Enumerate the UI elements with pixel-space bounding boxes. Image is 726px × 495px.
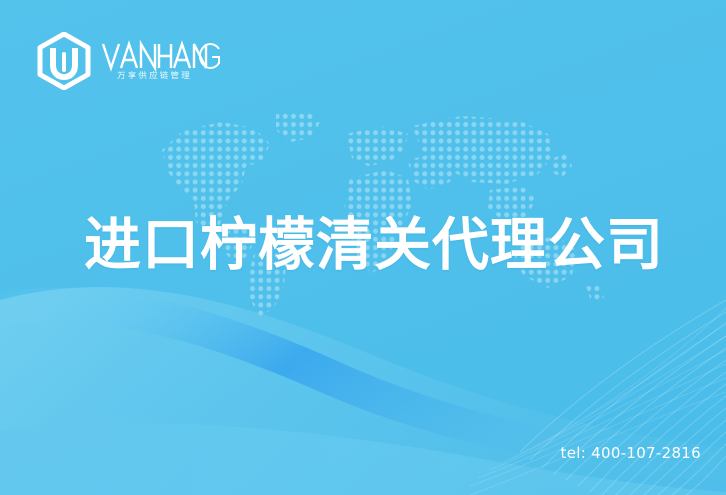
brand-wordmark-group: 万享供应链管理 <box>101 32 221 90</box>
brand-logo[interactable]: 万享供应链管理 <box>36 32 221 90</box>
contact-phone[interactable]: tel: 400-107-2816 <box>561 444 701 462</box>
promo-banner: 万享供应链管理 进口柠檬清关代理公司 tel: 400-107-2816 <box>0 0 726 495</box>
brand-subtitle: 万享供应链管理 <box>117 69 192 80</box>
hexagon-u-mark-icon <box>36 32 92 90</box>
headline-title: 进口柠檬清关代理公司 <box>84 216 664 276</box>
